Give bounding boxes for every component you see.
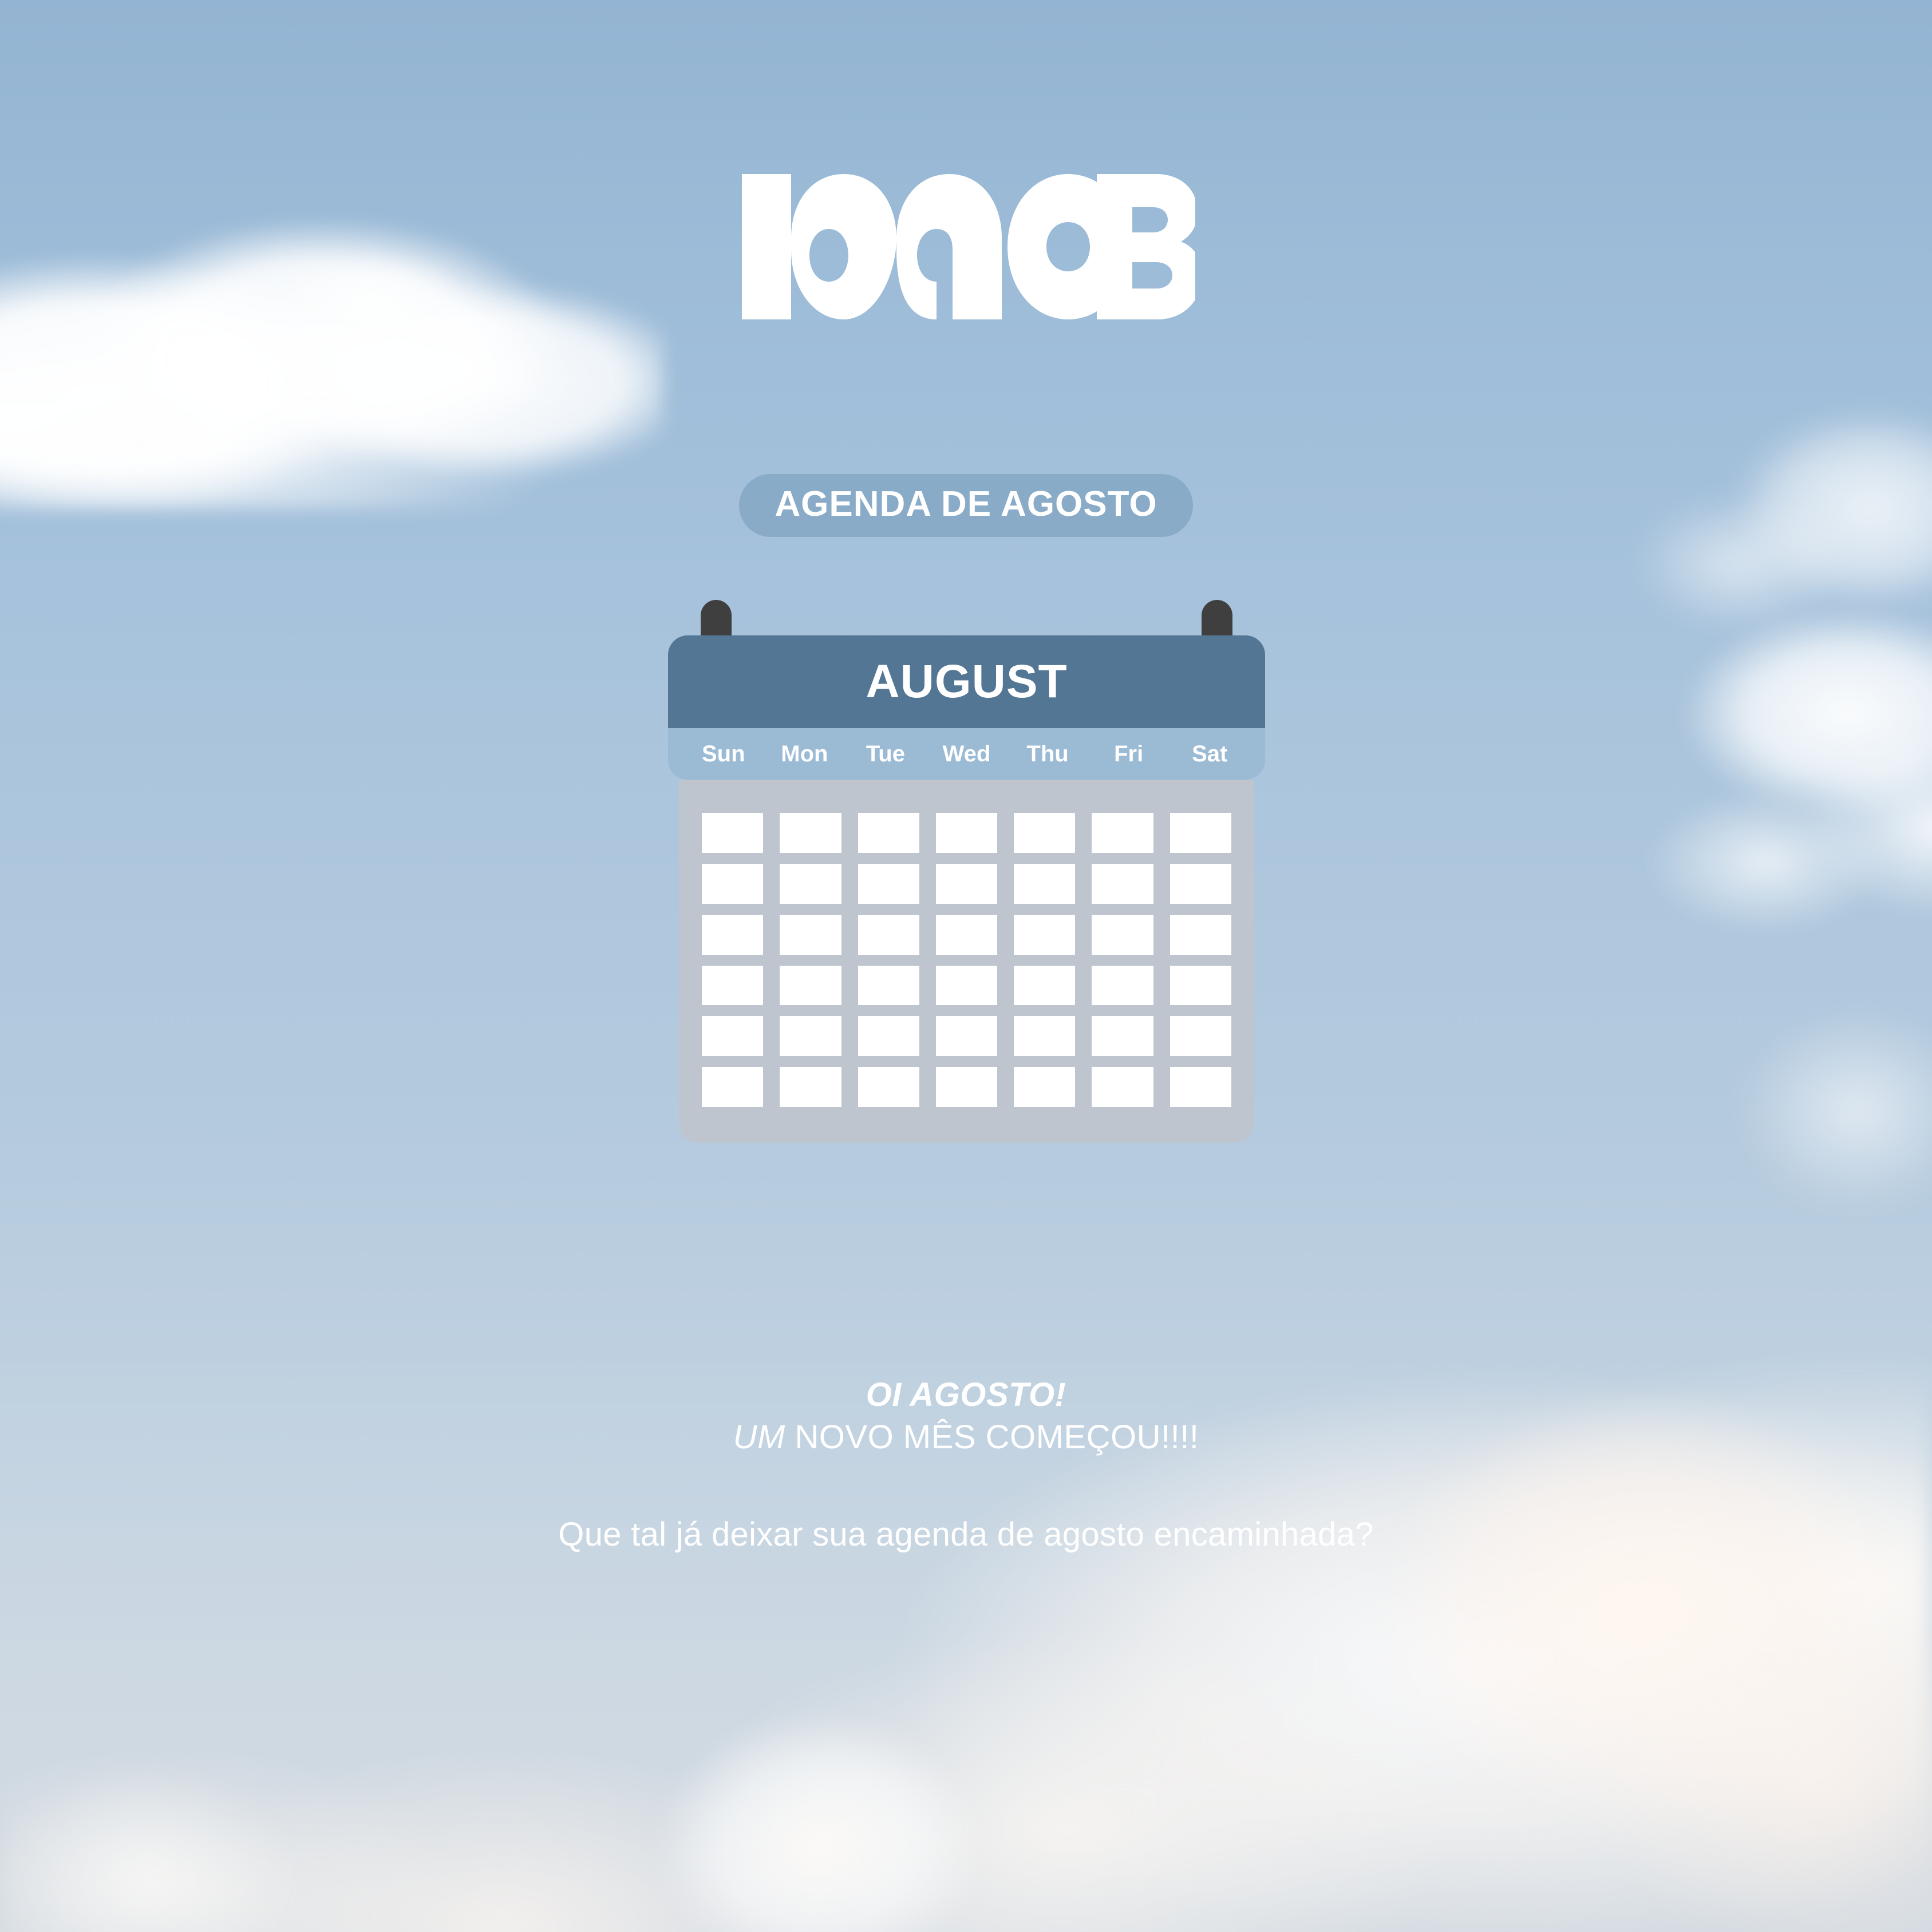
weekday-wed: Wed	[926, 742, 1008, 765]
calendar-day-cell[interactable]	[1092, 1016, 1153, 1056]
caption-block: OI AGOSTO! UM NOVO MÊS COMEÇOU!!!! Que t…	[0, 1374, 1932, 1556]
calendar-day-cell[interactable]	[936, 915, 997, 955]
calendar-weekday-row: Sun Mon Tue Wed Thu Fri Sat	[668, 728, 1265, 780]
calendar-day-cell[interactable]	[1170, 864, 1231, 904]
calendar-day-cell[interactable]	[1014, 1016, 1075, 1056]
calendar-day-cell[interactable]	[702, 864, 763, 904]
calendar-day-cell[interactable]	[780, 864, 841, 904]
calendar-day-cell[interactable]	[1170, 915, 1231, 955]
weekday-mon: Mon	[764, 742, 846, 765]
calendar-day-cell[interactable]	[858, 966, 919, 1006]
calendar-day-cell[interactable]	[858, 813, 919, 853]
calendar-day-cell[interactable]	[1170, 1067, 1231, 1107]
calendar-day-cell[interactable]	[1170, 966, 1231, 1006]
calendar-day-cell[interactable]	[858, 1067, 919, 1107]
calendar-day-cell[interactable]	[780, 1067, 841, 1107]
weekday-sun: Sun	[683, 742, 764, 765]
mob-wordmark-icon	[737, 169, 1195, 324]
calendar-day-cell[interactable]	[1092, 966, 1153, 1006]
caption-subheadline: UM NOVO MÊS COMEÇOU!!!!	[0, 1416, 1932, 1459]
calendar-day-cell[interactable]	[858, 864, 919, 904]
calendar-day-cell[interactable]	[858, 1016, 919, 1056]
calendar-header: AUGUST	[668, 635, 1265, 728]
calendar-day-cell[interactable]	[936, 1016, 997, 1056]
calendar-day-cell[interactable]	[1014, 864, 1075, 904]
caption-subheadline-emphasis: UM	[733, 1419, 785, 1456]
calendar-day-cell[interactable]	[936, 864, 997, 904]
calendar-day-cell[interactable]	[1170, 1016, 1231, 1056]
calendar-day-cell[interactable]	[1014, 813, 1075, 853]
calendar-day-cell[interactable]	[702, 813, 763, 853]
calendar-day-cell[interactable]	[1014, 915, 1075, 955]
calendar-day-cell[interactable]	[936, 813, 997, 853]
agenda-badge[interactable]: AGENDA DE AGOSTO	[739, 474, 1192, 537]
calendar-day-cell[interactable]	[702, 966, 763, 1006]
calendar-month-label: AUGUST	[866, 658, 1067, 705]
calendar-day-cell[interactable]	[780, 1016, 841, 1056]
calendar-day-cell[interactable]	[1014, 966, 1075, 1006]
calendar-day-cell[interactable]	[1092, 813, 1153, 853]
weekday-sat: Sat	[1169, 742, 1250, 765]
brand-logo	[0, 169, 1932, 324]
calendar-day-cell[interactable]	[780, 813, 841, 853]
calendar-day-cell[interactable]	[936, 966, 997, 1006]
calendar-day-cell[interactable]	[780, 966, 841, 1006]
calendar-day-cell[interactable]	[780, 915, 841, 955]
calendar-widget[interactable]: AUGUST Sun Mon Tue Wed Thu Fri Sat	[668, 635, 1265, 780]
caption-headline: OI AGOSTO!	[0, 1374, 1932, 1416]
calendar-day-cell[interactable]	[1170, 813, 1231, 853]
calendar-day-cell[interactable]	[936, 1067, 997, 1107]
calendar-day-cell[interactable]	[702, 1067, 763, 1107]
weekday-fri: Fri	[1088, 742, 1170, 765]
agenda-badge-label: AGENDA DE AGOSTO	[775, 484, 1157, 524]
calendar-day-cell[interactable]	[858, 915, 919, 955]
calendar-day-cell[interactable]	[1014, 1067, 1075, 1107]
calendar-day-grid[interactable]	[679, 780, 1254, 1143]
calendar-day-cell[interactable]	[1092, 915, 1153, 955]
section-badge-wrapper: AGENDA DE AGOSTO	[0, 474, 1932, 537]
weekday-tue: Tue	[845, 742, 926, 765]
weekday-thu: Thu	[1007, 742, 1088, 765]
calendar-day-cell[interactable]	[1092, 1067, 1153, 1107]
caption-subheadline-rest: NOVO MÊS COMEÇOU!!!!	[785, 1419, 1199, 1456]
calendar-day-cell[interactable]	[702, 1016, 763, 1056]
caption-question: Que tal já deixar sua agenda de agosto e…	[0, 1514, 1932, 1556]
calendar-day-cell[interactable]	[1092, 864, 1153, 904]
calendar-day-cell[interactable]	[702, 915, 763, 955]
